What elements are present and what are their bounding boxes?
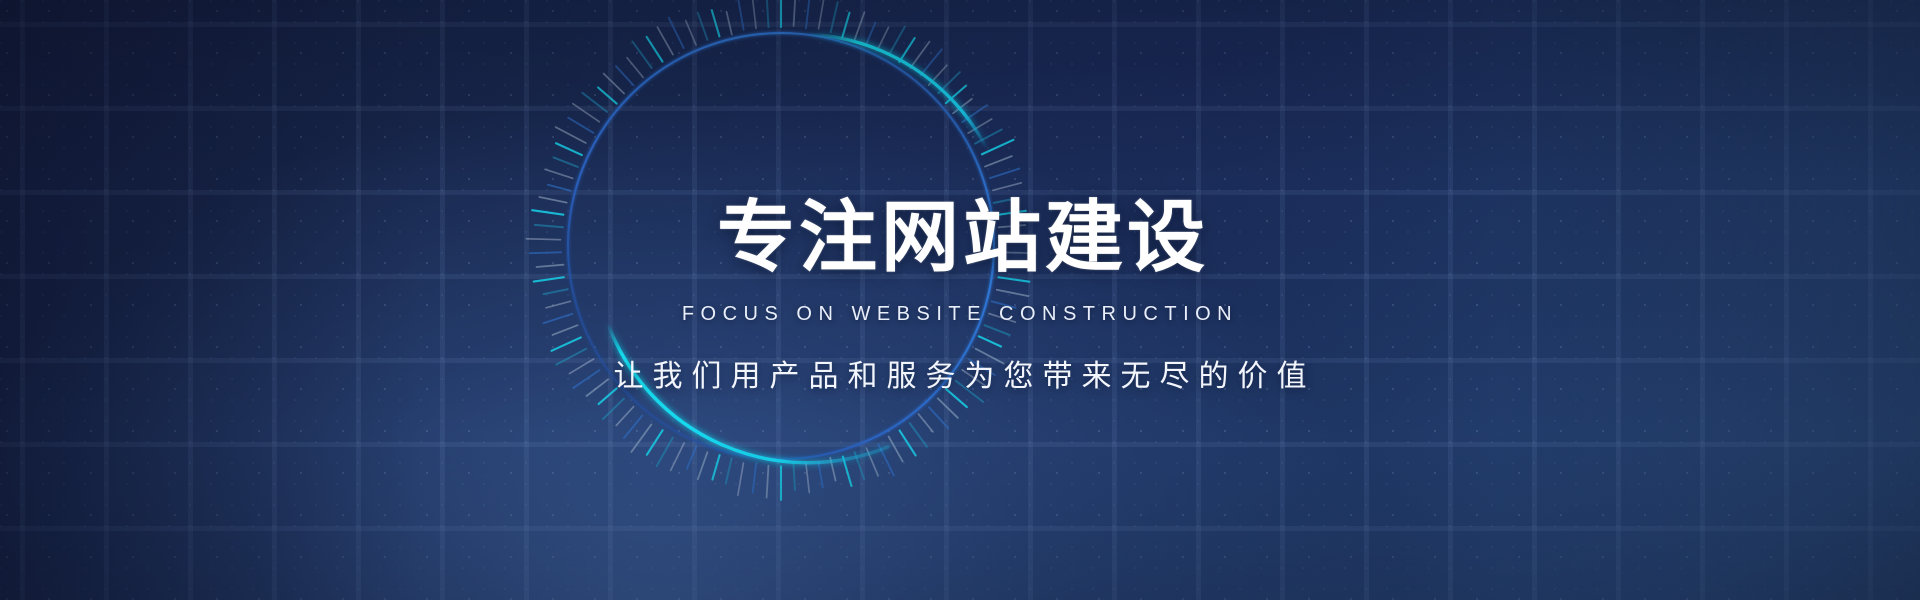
hero-banner: 专注网站建设 FOCUS ON WEBSITE CONSTRUCTION 让我们… (0, 0, 1920, 600)
banner-content: 专注网站建设 FOCUS ON WEBSITE CONSTRUCTION 让我们… (0, 0, 1920, 600)
page-tagline: 让我们用产品和服务为您带来无尽的价值 (605, 351, 1316, 395)
page-title: 专注网站建设 (711, 199, 1209, 277)
page-subtitle: FOCUS ON WEBSITE CONSTRUCTION (682, 303, 1238, 326)
